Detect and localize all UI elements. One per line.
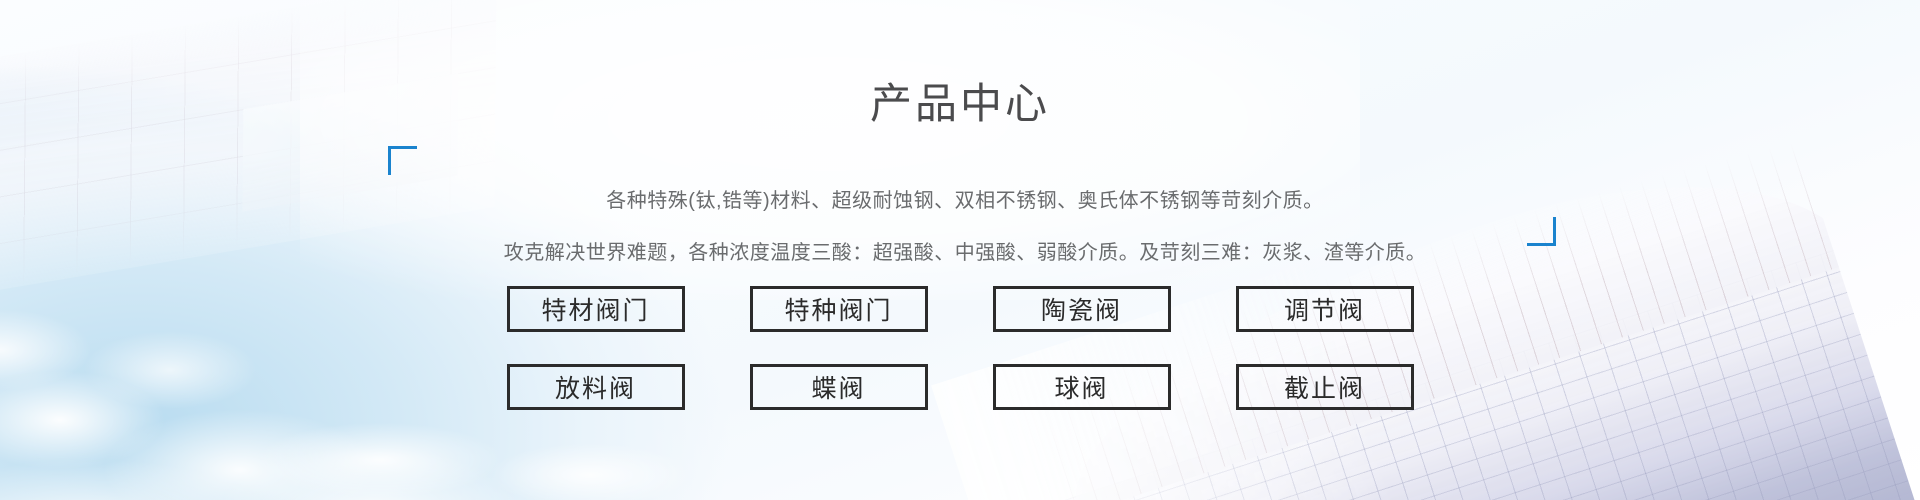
category-button-special-valve[interactable]: 特种阀门 [750, 286, 928, 332]
category-button-techai-valve[interactable]: 特材阀门 [507, 286, 685, 332]
category-button-ceramic-valve[interactable]: 陶瓷阀 [993, 286, 1171, 332]
category-button-control-valve[interactable]: 调节阀 [1236, 286, 1414, 332]
category-row-1: 特材阀门 特种阀门 陶瓷阀 调节阀 [507, 286, 1414, 332]
category-button-butterfly-valve[interactable]: 蝶阀 [750, 364, 928, 410]
category-button-discharge-valve[interactable]: 放料阀 [507, 364, 685, 410]
description-block: 各种特殊(钛,锆等)材料、超级耐蚀钢、双相不锈钢、奥氏体不锈钢等苛刻介质。 攻克… [360, 140, 1570, 250]
category-button-ball-valve[interactable]: 球阀 [993, 364, 1171, 410]
category-button-grid: 特材阀门 特种阀门 陶瓷阀 调节阀 放料阀 蝶阀 球阀 截止阀 [0, 286, 1920, 410]
description-line-2: 攻克解决世界难题，各种浓度温度三酸：超强酸、中强酸、弱酸介质。及苛刻三难：灰浆、… [360, 236, 1570, 265]
description-line-1: 各种特殊(钛,锆等)材料、超级耐蚀钢、双相不锈钢、奥氏体不锈钢等苛刻介质。 [360, 184, 1570, 213]
category-button-globe-valve[interactable]: 截止阀 [1236, 364, 1414, 410]
banner-content: 产品中心 各种特殊(钛,锆等)材料、超级耐蚀钢、双相不锈钢、奥氏体不锈钢等苛刻介… [0, 0, 1920, 500]
category-row-2: 放料阀 蝶阀 球阀 截止阀 [507, 364, 1414, 410]
page-title: 产品中心 [0, 83, 1920, 125]
product-center-banner: 产品中心 各种特殊(钛,锆等)材料、超级耐蚀钢、双相不锈钢、奥氏体不锈钢等苛刻介… [0, 0, 1920, 500]
corner-bracket-top-left-icon [388, 146, 417, 175]
